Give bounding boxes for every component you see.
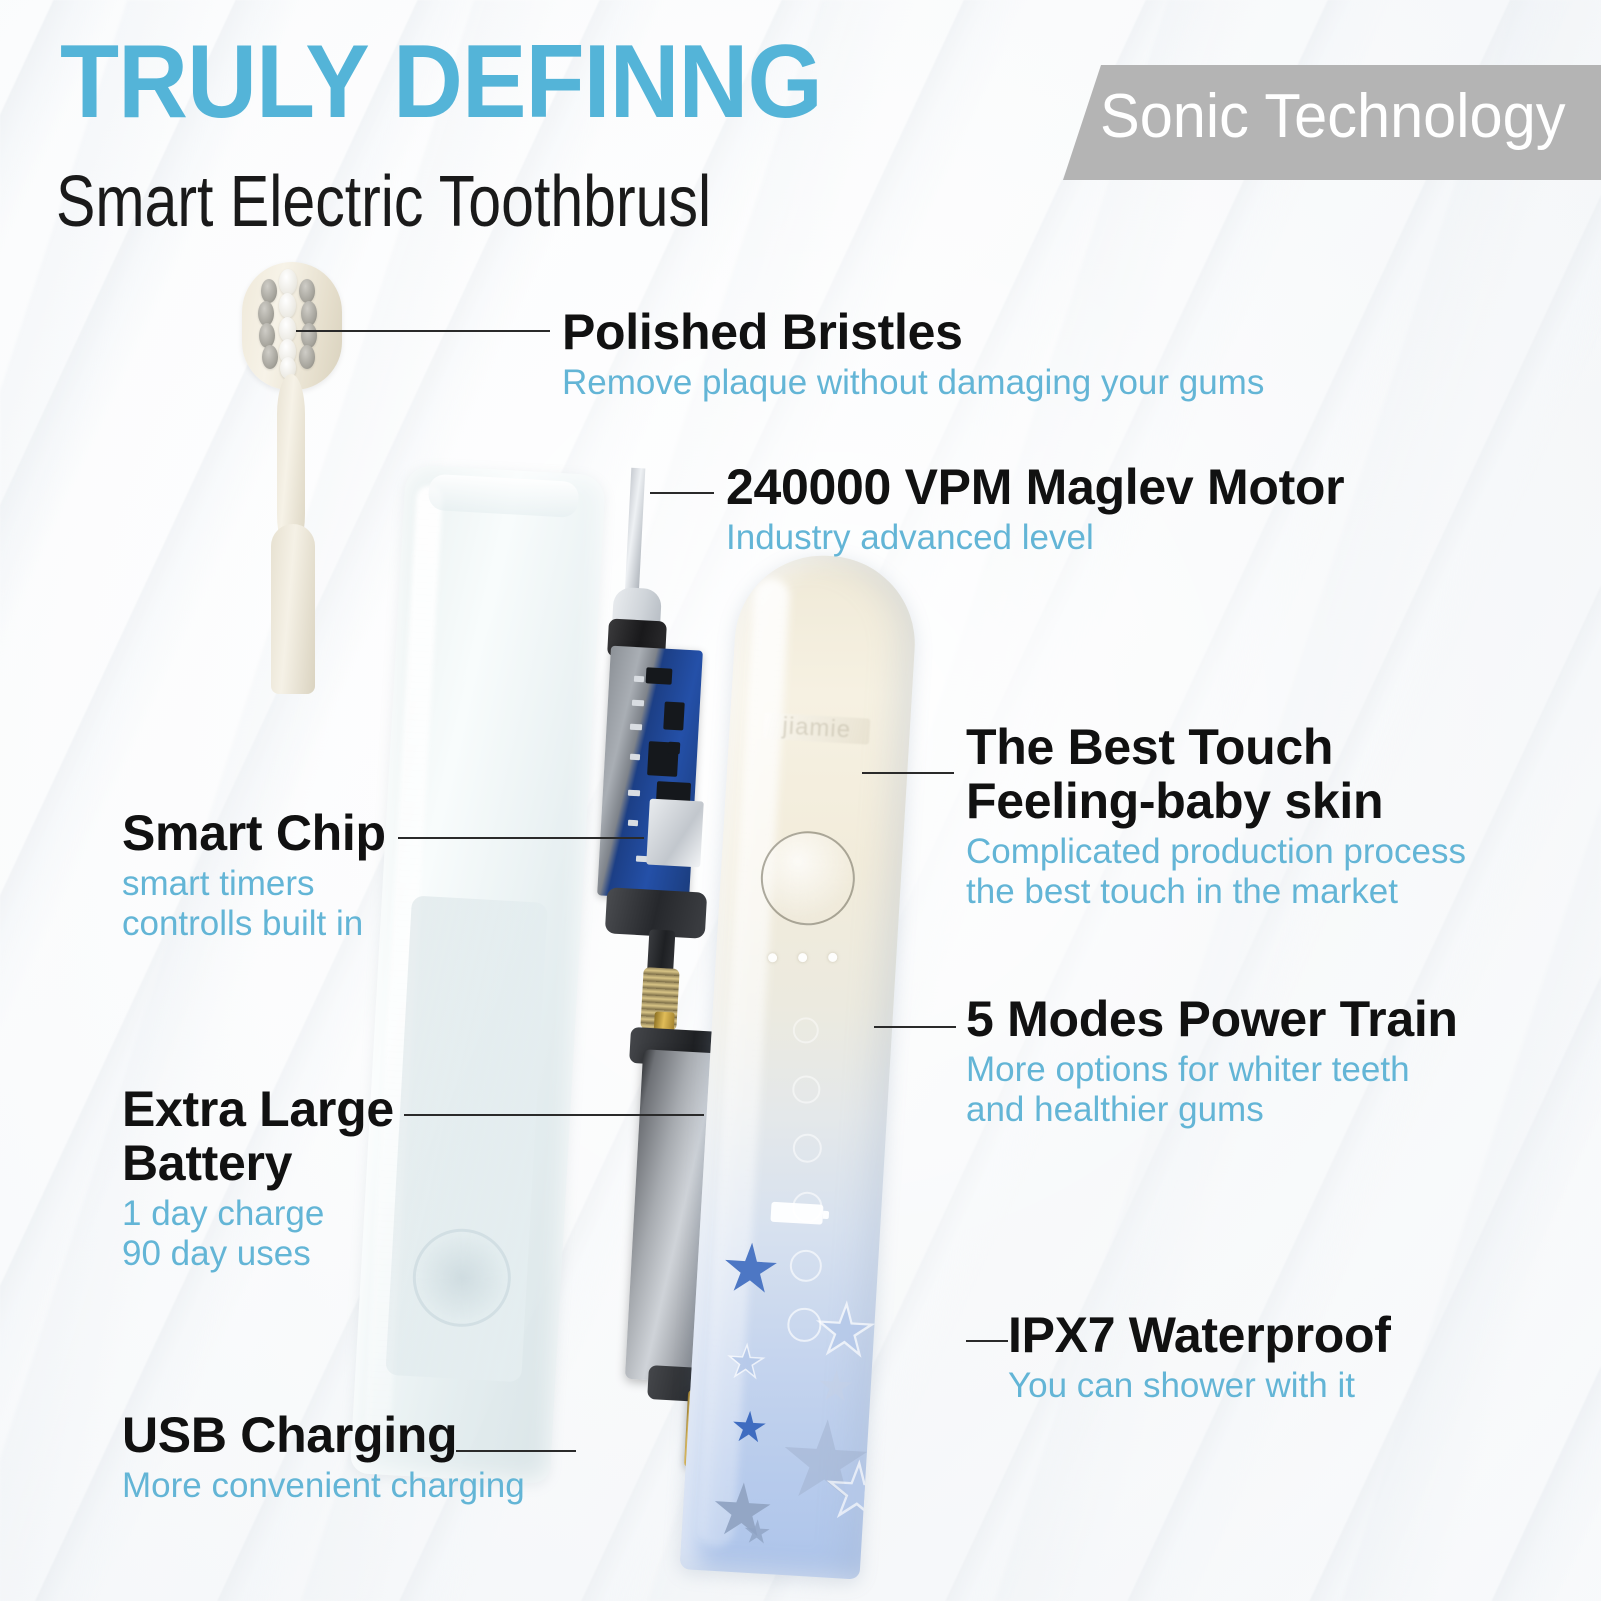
bristle-tuft [301,323,317,348]
pcb-solder-pad [630,724,642,731]
star-decoration [812,1298,878,1364]
pcb-solder-pad [630,754,640,761]
brush-head-graphic [228,262,356,692]
callout-title-polished-bristles: Polished Bristles [562,305,1264,359]
callout-subtitle-smart-chip: smart timers controlls built in [122,864,386,944]
callout-subtitle-maglev-motor: Industry advanced level [726,518,1344,558]
pcb-solder-pad [628,790,640,797]
bristle-tuft [279,293,296,318]
bristle-tuft [259,323,275,348]
shell-lip [428,474,580,518]
callout-title-best-touch: The Best Touch Feeling-baby skin [966,720,1466,828]
brush-head-shaft [271,524,315,694]
page-title: TRULY DEFINNG [60,30,822,134]
page-subtitle: Smart Electric Toothbrusl [56,160,711,244]
callout-title-maglev-motor: 240000 VPM Maglev Motor [726,460,1344,514]
callout-subtitle-extra-large-battery: 1 day charge 90 day uses [122,1194,394,1274]
translucent-housing-shell [350,464,606,1484]
mode-ring [792,1017,819,1044]
callout-maglev-motor: 240000 VPM Maglev Motor Industry advance… [726,460,1344,558]
leader-polished-bristles [296,330,550,332]
bristle-tuft [299,345,315,369]
toothbrush-handle: jiamie [680,551,920,1580]
callout-extra-large-battery: Extra Large Battery 1 day charge 90 day … [122,1082,394,1274]
bristle-tufts [249,267,335,382]
mode-ring [792,1075,821,1104]
leader-maglev-motor [650,492,714,494]
callout-ipx7-waterproof: IPX7 Waterproof You can shower with it [1008,1308,1391,1406]
callout-title-ipx7-waterproof: IPX7 Waterproof [1008,1308,1391,1362]
star-decoration [818,1369,854,1405]
bristle-tuft [279,269,297,295]
pcb-solder-pad [632,700,644,707]
battery-indicator-icon [770,1202,823,1225]
bristle-tuft [299,279,315,303]
pcb-chip [668,742,681,755]
callout-title-power-train: 5 Modes Power Train [966,992,1458,1046]
callout-usb-charging: USB Charging More convenient charging [122,1408,525,1506]
leader-power-train [874,1026,956,1028]
callout-subtitle-best-touch: Complicated production process the best … [966,832,1466,912]
callout-subtitle-usb-charging: More convenient charging [122,1466,525,1506]
header: Sonic Technology TRULY DEFINNG Smart Ele… [0,0,1601,250]
infographic-canvas: Sonic Technology TRULY DEFINNG Smart Ele… [0,0,1601,1601]
callout-power-train: 5 Modes Power Train More options for whi… [966,992,1458,1130]
mode-ring [792,1133,823,1164]
callout-subtitle-ipx7-waterproof: You can shower with it [1008,1366,1391,1406]
callout-title-smart-chip: Smart Chip [122,806,386,860]
indicator-dot-3 [828,953,838,963]
mode-ring [789,1249,823,1283]
leader-smart-chip [398,837,644,839]
mode-ring [787,1307,822,1342]
callout-smart-chip: Smart Chip smart timers controlls built … [122,806,386,944]
star-inner-cutout [820,1306,870,1356]
leader-best-touch [862,772,954,774]
callout-best-touch: The Best Touch Feeling-baby skin Complic… [966,720,1466,912]
pcb-chip [646,667,673,684]
pcb-solder-pad [634,676,644,683]
callout-subtitle-power-train: More options for whiter teeth and health… [966,1050,1458,1130]
callout-polished-bristles: Polished Bristles Remove plaque without … [562,305,1264,403]
leader-ipx7 [966,1340,1008,1342]
indicator-dot-2 [798,953,808,963]
motor-drive-shaft [625,468,646,597]
callout-title-usb-charging: USB Charging [122,1408,525,1462]
callout-title-extra-large-battery: Extra Large Battery [122,1082,394,1190]
pcb-shield-can [646,799,704,868]
leader-battery [404,1114,704,1116]
pcb-chip [663,701,685,730]
pcb-solder-pad [628,820,638,827]
indicator-dot-1 [768,953,778,963]
bristle-tuft [262,345,278,369]
bristle-tuft [261,279,277,303]
callout-subtitle-polished-bristles: Remove plaque without damaging your gums [562,363,1264,403]
sonic-technology-badge-label: Sonic Technology [1100,82,1565,152]
